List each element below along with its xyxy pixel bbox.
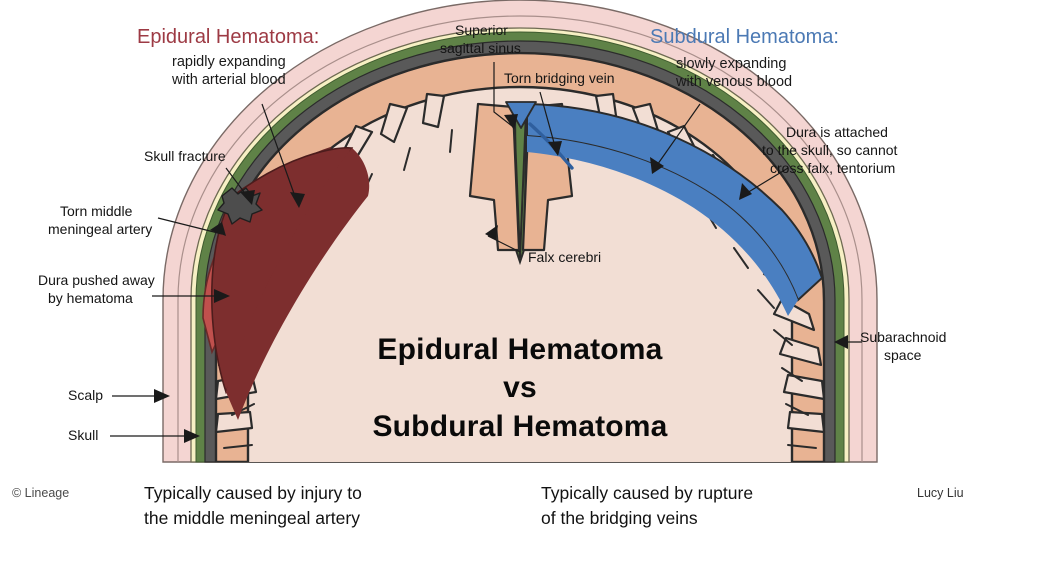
subdural-heading: Subdural Hematoma:	[650, 26, 839, 50]
caption-left-line2: the middle meningeal artery	[144, 506, 362, 531]
label-falx-cerebri: Falx cerebri	[528, 249, 601, 266]
label-dura-attached-line2: to the skull, so cannot	[762, 142, 897, 159]
copyright-credit: © Lineage	[12, 486, 69, 500]
caption-right-line1: Typically caused by rupture	[541, 481, 753, 506]
epidural-heading: Epidural Hematoma:	[137, 26, 319, 50]
label-dura-attached-line3: cross falx, tentorium	[770, 160, 895, 177]
center-title-line3: Subdural Hematoma	[330, 408, 710, 446]
label-subarachnoid-line2: space	[884, 347, 921, 364]
label-scalp: Scalp	[68, 387, 103, 404]
label-dura-pushed-line1: Dura pushed away	[38, 272, 155, 289]
label-skull-fracture: Skull fracture	[144, 148, 226, 165]
label-torn-bridging-vein: Torn bridging vein	[504, 70, 615, 87]
caption-left-line1: Typically caused by injury to	[144, 481, 362, 506]
diagram-canvas: Epidural Hematoma: rapidly expanding wit…	[0, 0, 1040, 564]
label-torn-mma-line2: meningeal artery	[48, 221, 152, 238]
subdural-note-line1: slowly expanding	[676, 56, 786, 73]
label-torn-mma-line1: Torn middle	[60, 203, 132, 220]
label-superior-sagittal-sinus-line2: sagittal sinus	[440, 40, 521, 57]
label-dura-attached-line1: Dura is attached	[786, 124, 888, 141]
caption-right-line2: of the bridging veins	[541, 506, 753, 531]
center-title-line1: Epidural Hematoma	[330, 331, 710, 369]
label-superior-sagittal-sinus-line1: Superior	[455, 22, 508, 39]
epidural-note-line2: with arterial blood	[172, 72, 286, 89]
subdural-note-line2: with venous blood	[676, 74, 792, 91]
center-title-line2: vs	[330, 369, 710, 407]
label-subarachnoid-line1: Subarachnoid	[860, 329, 946, 346]
epidural-note-line1: rapidly expanding	[172, 54, 286, 71]
label-skull: Skull	[68, 427, 98, 444]
artist-byline: Lucy Liu	[917, 486, 964, 500]
label-dura-pushed-line2: by hematoma	[48, 290, 133, 307]
